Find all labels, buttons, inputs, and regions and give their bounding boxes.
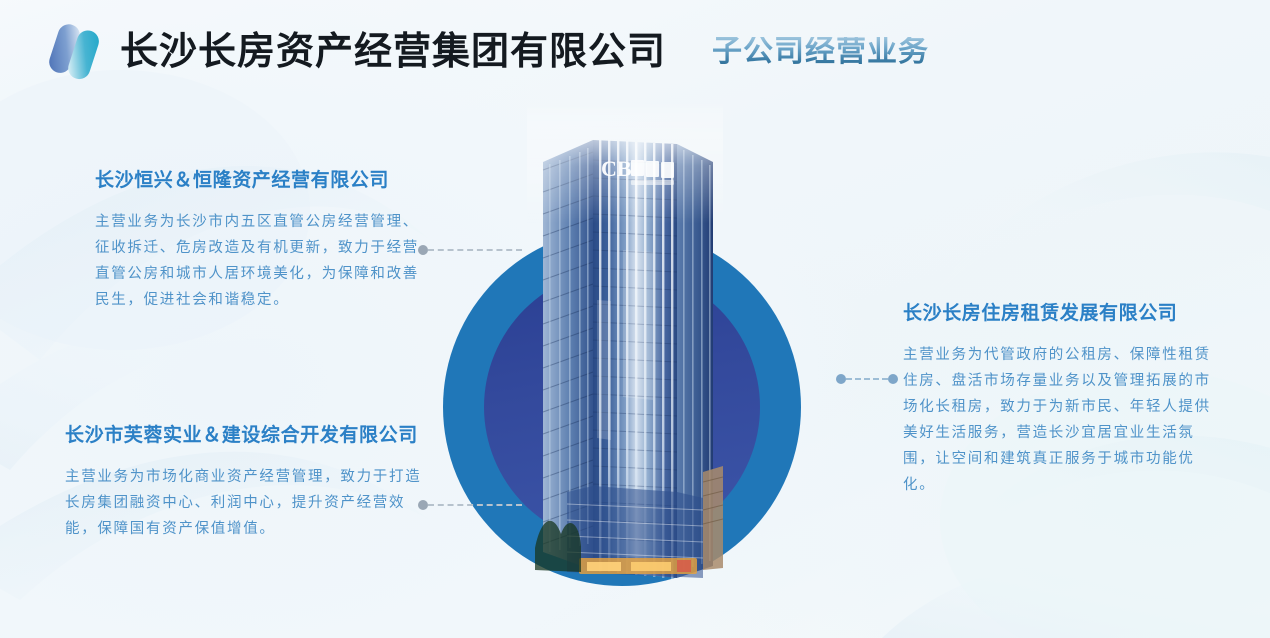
page-header: 长沙长房资产经营集团有限公司 子公司经营业务	[48, 22, 929, 82]
company-description: 主营业务为市场化商业资产经营管理，致力于打造长房集团融资中心、利润中心，提升资产…	[65, 464, 427, 542]
connector-dash	[428, 504, 522, 506]
hero-circle	[443, 228, 801, 586]
connector-dot	[836, 374, 846, 384]
page-title: 长沙长房资产经营集团有限公司	[120, 33, 666, 71]
company-heading: 长沙恒兴＆恒隆资产经营有限公司	[95, 170, 427, 193]
company-block-furong-jianshe: 长沙市芙蓉实业＆建设综合开发有限公司 主营业务为市场化商业资产经营管理，致力于打…	[65, 425, 427, 542]
connector-dash	[846, 378, 888, 380]
connector-top-left	[418, 245, 522, 255]
page-subtitle: 子公司经营业务	[712, 37, 929, 67]
svg-text:CB: CB	[601, 156, 632, 181]
company-block-hengxing-henglong: 长沙恒兴＆恒隆资产经营有限公司 主营业务为长沙市内五区直管公房经营管理、征收拆迁…	[95, 170, 427, 313]
ring-inner-sky	[484, 269, 760, 545]
connector-bottom-left	[418, 500, 522, 510]
company-heading: 长沙市芙蓉实业＆建设综合开发有限公司	[65, 425, 427, 448]
connector-dot	[888, 374, 898, 384]
connector-dash	[428, 249, 522, 251]
company-description: 主营业务为长沙市内五区直管公房经营管理、征收拆迁、危房改造及有机更新，致力于经营…	[95, 209, 427, 313]
company-block-zufang-fazhan: 长沙长房住房租赁发展有限公司 主营业务为代管政府的公租房、保障性租赁住房、盘活市…	[903, 303, 1223, 498]
double-capsule-logo	[48, 23, 102, 81]
company-heading: 长沙长房住房租赁发展有限公司	[903, 303, 1223, 326]
slide-root: 长沙长房资产经营集团有限公司 子公司经营业务	[0, 0, 1270, 638]
connector-right	[836, 374, 898, 384]
company-description: 主营业务为代管政府的公租房、保障性租赁住房、盘活市场存量业务以及管理拓展的市场化…	[903, 342, 1223, 498]
